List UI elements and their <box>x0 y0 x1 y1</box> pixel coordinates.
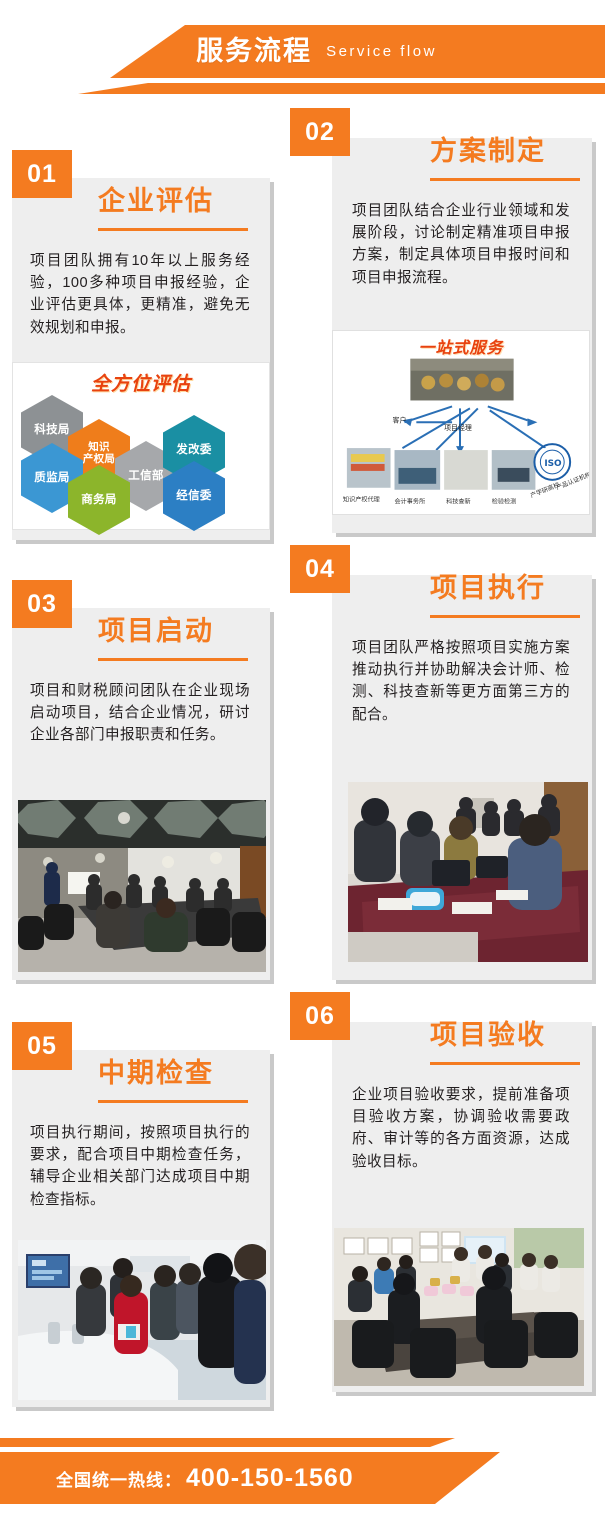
hotline-number[interactable]: 400-150-1560 <box>186 1464 354 1493</box>
title-underline <box>430 178 580 181</box>
card-title: 方案制定 <box>430 138 546 165</box>
card-description: 项目和财税顾问团队在企业现场启动项目，结合企业情况，研讨企业各部门申报职责和任务… <box>30 680 250 747</box>
card-title: 项目验收 <box>430 1022 546 1049</box>
infographic-page: 服务流程 Service flow 01 企业评估 项目团队拥有10年以上服务经… <box>0 0 605 1538</box>
conference-room-meeting-photo <box>18 800 266 972</box>
header-title-group: 服务流程 Service flow <box>0 25 605 78</box>
hexagon-assessment-diagram: 全方位评估 科技局 知识 产权局 质监局 工信部 商务局 发改委 经信委 <box>12 362 270 530</box>
svg-text:知识产权代理: 知识产权代理 <box>343 496 380 504</box>
card-number-badge: 02 <box>290 108 350 156</box>
footer-orange-stripe <box>0 1438 605 1447</box>
svg-text:科技查新: 科技查新 <box>446 498 471 506</box>
card-title: 中期检查 <box>98 1060 214 1087</box>
header-orange-stripe <box>0 83 605 94</box>
title-underline <box>430 1062 580 1065</box>
one-stop-graphic: 客户 项目经理 ISO 知识产权代理 会计事务所 科技查新 检验检测 产学研高校… <box>333 331 589 515</box>
card-description: 项目团队严格按照项目实施方案推动执行并协助解决会计师、检测、科技查新等更方面第三… <box>352 637 570 726</box>
title-underline <box>430 615 580 618</box>
acceptance-meeting-photo <box>334 1228 584 1386</box>
card-number-badge: 01 <box>12 150 72 198</box>
svg-text:ISO: ISO <box>544 459 562 469</box>
one-stop-title: 一站式服务 <box>418 334 503 358</box>
card-title: 项目执行 <box>430 575 546 602</box>
hotline-group: 全国统一热线： 400-150-1560 <box>56 1452 354 1504</box>
page-footer: 全国统一热线： 400-150-1560 <box>0 1438 605 1538</box>
card-title: 项目启动 <box>98 618 214 645</box>
hotline-label: 全国统一热线： <box>56 1466 182 1491</box>
page-title-en: Service flow <box>326 43 437 60</box>
svg-text:客户: 客户 <box>393 415 407 424</box>
site-visit-photo <box>18 1240 266 1400</box>
page-header: 服务流程 Service flow <box>0 0 605 100</box>
card-description: 项目执行期间，按照项目执行的要求，配合项目中期检查任务，辅导企业相关部门达成项目… <box>30 1122 250 1211</box>
card-number-badge: 03 <box>12 580 72 628</box>
title-underline <box>98 228 248 231</box>
card-number-badge: 06 <box>290 992 350 1040</box>
hex-diagram-title: 全方位评估 <box>91 369 191 396</box>
card-description: 项目团队拥有10年以上服务经验，100多种项目申报经验，企业评估更具体，更精准，… <box>30 250 250 339</box>
title-underline <box>98 658 248 661</box>
card-number-badge: 04 <box>290 545 350 593</box>
svg-text:检验检测: 检验检测 <box>492 498 517 506</box>
svg-text:会计事务所: 会计事务所 <box>395 498 426 506</box>
svg-text:项目经理: 项目经理 <box>444 423 472 432</box>
card-number-badge: 05 <box>12 1022 72 1070</box>
card-description: 项目团队结合企业行业领域和发展阶段，讨论制定精准项目申报方案，制定具体项目申报时… <box>352 200 570 289</box>
card-description: 企业项目验收要求，提前准备项目验收方案，协调验收需要政府、审计等的各方面资源，达… <box>352 1084 570 1173</box>
one-stop-service-diagram: 一站式服务 客户 项目经理 <box>332 330 590 515</box>
title-underline <box>98 1100 248 1103</box>
card-title: 企业评估 <box>98 188 214 215</box>
page-title-cn: 服务流程 <box>196 38 312 65</box>
working-session-photo <box>348 782 588 962</box>
